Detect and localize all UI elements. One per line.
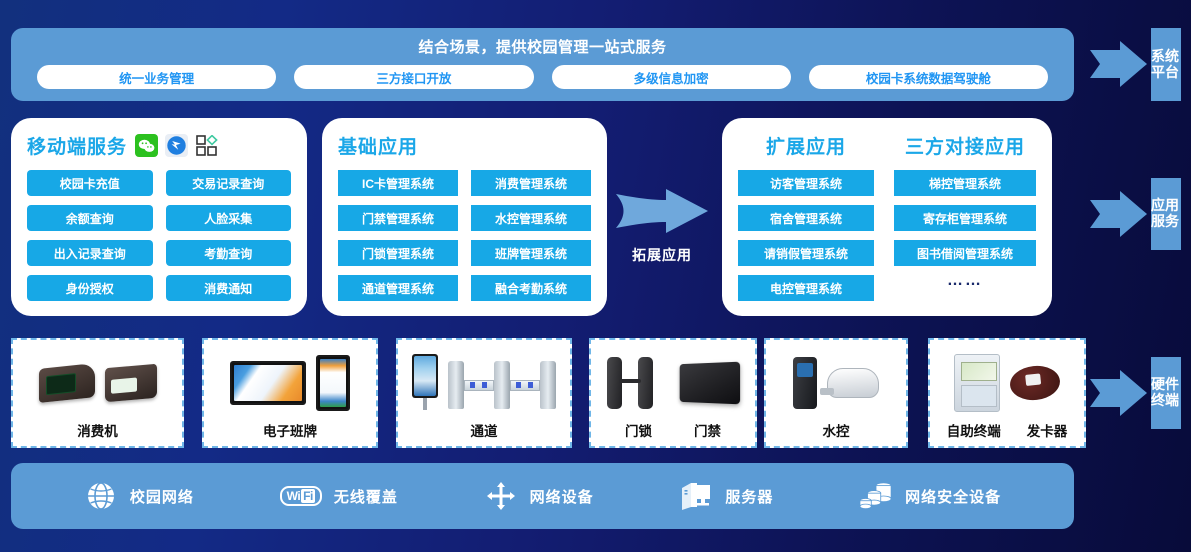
basic-btn-class-board-system[interactable]: 班牌管理系统 <box>471 240 591 266</box>
face-terminal-icon <box>412 354 438 412</box>
basic-btn-channel-system[interactable]: 通道管理系统 <box>338 275 458 301</box>
hardware-label-pos: 消费机 <box>77 420 118 440</box>
mobile-btn-identity-auth[interactable]: 身份授权 <box>27 275 153 301</box>
hardware-class-board-labels: 电子班牌 <box>204 420 376 440</box>
self-service-kiosk-icon <box>954 354 1000 412</box>
mobile-btn-access-record-query[interactable]: 出入记录查询 <box>27 240 153 266</box>
infra-item-campus-network[interactable]: 校园网络 <box>84 479 194 513</box>
infra-label-wireless: 无线覆盖 <box>334 486 398 507</box>
infra-item-server[interactable]: 服务器 <box>679 479 773 513</box>
ext-btn-visitor-system[interactable]: 访客管理系统 <box>738 170 874 196</box>
basic-btn-door-lock-system[interactable]: 门锁管理系统 <box>338 240 458 266</box>
hardware-label-access-control: 门禁 <box>694 420 721 440</box>
mobile-service-button-grid: 校园卡充值 交易记录查询 余额查询 人脸采集 出入记录查询 考勤查询 身份授权 … <box>27 170 291 301</box>
hardware-kiosk-images <box>930 340 1084 420</box>
mobile-btn-balance-query[interactable]: 余额查询 <box>27 205 153 231</box>
basic-btn-attendance-system[interactable]: 融合考勤系统 <box>471 275 591 301</box>
hardware-card-kiosk-issuer[interactable]: 自助终端 发卡器 <box>928 338 1086 448</box>
wechat-icon[interactable] <box>135 134 158 157</box>
smart-lock-back-icon <box>638 357 653 409</box>
extended-application-buttons: 访客管理系统 宿舍管理系统 请销假管理系统 电控管理系统 <box>738 170 874 301</box>
extended-application-column: 扩展应用 访客管理系统 宿舍管理系统 请销假管理系统 电控管理系统 <box>738 132 874 301</box>
hardware-label-self-service: 自助终端 <box>947 420 1001 440</box>
hardware-label-water-control: 水控 <box>823 420 850 440</box>
mobile-btn-card-recharge[interactable]: 校园卡充值 <box>27 170 153 196</box>
hardware-label-class-board: 电子班牌 <box>263 420 317 440</box>
card-issuer-icon <box>1008 363 1061 402</box>
database-stack-icon <box>859 479 893 513</box>
mobile-service-panel: 移动端服务 <box>11 118 307 316</box>
tall-display-icon <box>316 355 350 411</box>
expand-application-label: 拓展应用 <box>612 245 712 265</box>
third-party-application-heading: 三方对接应用 <box>894 132 1036 159</box>
access-reader-icon <box>680 362 740 405</box>
mobile-service-heading: 移动端服务 <box>27 132 127 159</box>
platform-title: 结合场景，提供校园管理一站式服务 <box>418 36 666 57</box>
expand-arrow-icon <box>614 188 710 234</box>
dingtalk-icon[interactable] <box>165 134 188 157</box>
mobile-service-header: 移动端服务 <box>27 132 291 159</box>
platform-chip-unified-business[interactable]: 统一业务管理 <box>37 65 276 89</box>
layer-tag-application-service: 应用服务 <box>1151 178 1181 250</box>
hardware-card-pos[interactable]: 消费机 <box>11 338 184 448</box>
wifi-icon: WiFi <box>280 486 322 506</box>
basic-btn-water-control-system[interactable]: 水控管理系统 <box>471 205 591 231</box>
platform-chip-encryption[interactable]: 多级信息加密 <box>552 65 791 89</box>
server-icon <box>679 479 713 513</box>
basic-btn-consumption-system[interactable]: 消费管理系统 <box>471 170 591 196</box>
ext-btn-power-control-system[interactable]: 电控管理系统 <box>738 275 874 301</box>
layer-arrow-platform <box>1090 40 1148 88</box>
infra-item-network-device[interactable]: 网络设备 <box>484 479 594 513</box>
mobile-btn-consumption-notice[interactable]: 消费通知 <box>166 275 292 301</box>
globe-icon <box>84 479 118 513</box>
layer-tag-hardware-terminal-label: 硬件终端 <box>1151 377 1181 408</box>
basic-application-heading: 基础应用 <box>338 132 591 159</box>
infra-item-wireless[interactable]: WiFi 无线覆盖 <box>280 486 398 507</box>
pos-terminal-icon <box>39 363 95 403</box>
extended-application-heading: 扩展应用 <box>738 132 874 159</box>
hardware-card-lock-access[interactable]: 门锁 门禁 <box>589 338 757 448</box>
hardware-card-channel[interactable]: 通道 <box>396 338 572 448</box>
expand-application-block: 拓展应用 <box>612 188 712 265</box>
layer-tag-system-platform-label: 系统平台 <box>1151 49 1181 80</box>
ext-btn-dormitory-system[interactable]: 宿舍管理系统 <box>738 205 874 231</box>
basic-btn-access-control-system[interactable]: 门禁管理系统 <box>338 205 458 231</box>
infra-label-campus-network: 校园网络 <box>130 486 194 507</box>
mobile-service-icon-row <box>135 134 218 157</box>
network-icon <box>484 479 518 513</box>
infra-label-server: 服务器 <box>725 486 773 507</box>
mobile-btn-attendance-query[interactable]: 考勤查询 <box>166 240 292 266</box>
infrastructure-bar: 校园网络 WiFi 无线覆盖 网络设备 服务器 <box>11 463 1074 529</box>
hardware-water-labels: 水控 <box>766 420 906 440</box>
infra-label-security-device: 网络安全设备 <box>905 486 1001 507</box>
layer-arrow-hardware <box>1090 369 1148 417</box>
system-platform-bar: 结合场景，提供校园管理一站式服务 统一业务管理 三方接口开放 多级信息加密 校园… <box>11 28 1074 101</box>
qrcode-icon[interactable] <box>195 134 218 157</box>
infra-item-security-device[interactable]: 网络安全设备 <box>859 479 1001 513</box>
tp-btn-locker-system[interactable]: 寄存柜管理系统 <box>894 205 1036 231</box>
basic-application-panel: 基础应用 IC卡管理系统 消费管理系统 门禁管理系统 水控管理系统 门锁管理系统… <box>322 118 607 316</box>
basic-btn-ic-card-system[interactable]: IC卡管理系统 <box>338 170 458 196</box>
hardware-lock-access-labels: 门锁 门禁 <box>591 420 755 440</box>
smart-lock-icon <box>607 357 622 409</box>
layer-tag-application-service-label: 应用服务 <box>1151 198 1181 229</box>
layer-tag-system-platform: 系统平台 <box>1151 28 1181 101</box>
third-party-application-column: 三方对接应用 梯控管理系统 寄存柜管理系统 图书借阅管理系统 …… <box>894 132 1036 301</box>
hardware-kiosk-labels: 自助终端 发卡器 <box>930 420 1084 440</box>
hardware-label-channel: 通道 <box>471 420 498 440</box>
mobile-btn-transaction-query[interactable]: 交易记录查询 <box>166 170 292 196</box>
ext-btn-leave-system[interactable]: 请销假管理系统 <box>738 240 874 266</box>
hardware-class-board-images <box>204 340 376 420</box>
hardware-pos-labels: 消费机 <box>13 420 182 440</box>
hardware-lock-access-images <box>591 340 755 420</box>
water-meter-icon <box>827 368 879 398</box>
speed-gate-icon <box>448 357 556 409</box>
hardware-channel-images <box>398 340 570 420</box>
hardware-water-images <box>766 340 906 420</box>
hardware-card-water[interactable]: 水控 <box>764 338 908 448</box>
layer-tag-hardware-terminal: 硬件终端 <box>1151 357 1181 429</box>
platform-chip-data-cockpit[interactable]: 校园卡系统数据驾驶舱 <box>809 65 1048 89</box>
extended-panel-columns: 扩展应用 访客管理系统 宿舍管理系统 请销假管理系统 电控管理系统 三方对接应用… <box>738 132 1036 301</box>
tp-btn-elevator-system[interactable]: 梯控管理系统 <box>894 170 1036 196</box>
mobile-btn-face-capture[interactable]: 人脸采集 <box>166 205 292 231</box>
hardware-label-card-issuer: 发卡器 <box>1027 420 1068 440</box>
third-party-ellipsis: …… <box>894 272 1036 290</box>
wide-display-icon <box>230 361 306 405</box>
hardware-card-class-board[interactable]: 电子班牌 <box>202 338 378 448</box>
platform-chip-row: 统一业务管理 三方接口开放 多级信息加密 校园卡系统数据驾驶舱 <box>11 65 1074 89</box>
layer-arrow-application <box>1090 190 1148 238</box>
infra-label-network-device: 网络设备 <box>530 486 594 507</box>
water-controller-icon <box>793 357 817 409</box>
platform-chip-third-party-api[interactable]: 三方接口开放 <box>294 65 533 89</box>
third-party-application-buttons: 梯控管理系统 寄存柜管理系统 图书借阅管理系统 <box>894 170 1036 266</box>
hardware-label-door-lock: 门锁 <box>625 420 652 440</box>
pos-terminal-2-icon <box>105 364 157 403</box>
hardware-pos-images <box>13 340 182 420</box>
tp-btn-library-system[interactable]: 图书借阅管理系统 <box>894 240 1036 266</box>
extended-application-panel: 扩展应用 访客管理系统 宿舍管理系统 请销假管理系统 电控管理系统 三方对接应用… <box>722 118 1052 316</box>
basic-application-button-grid: IC卡管理系统 消费管理系统 门禁管理系统 水控管理系统 门锁管理系统 班牌管理… <box>338 170 591 301</box>
hardware-channel-labels: 通道 <box>398 420 570 440</box>
